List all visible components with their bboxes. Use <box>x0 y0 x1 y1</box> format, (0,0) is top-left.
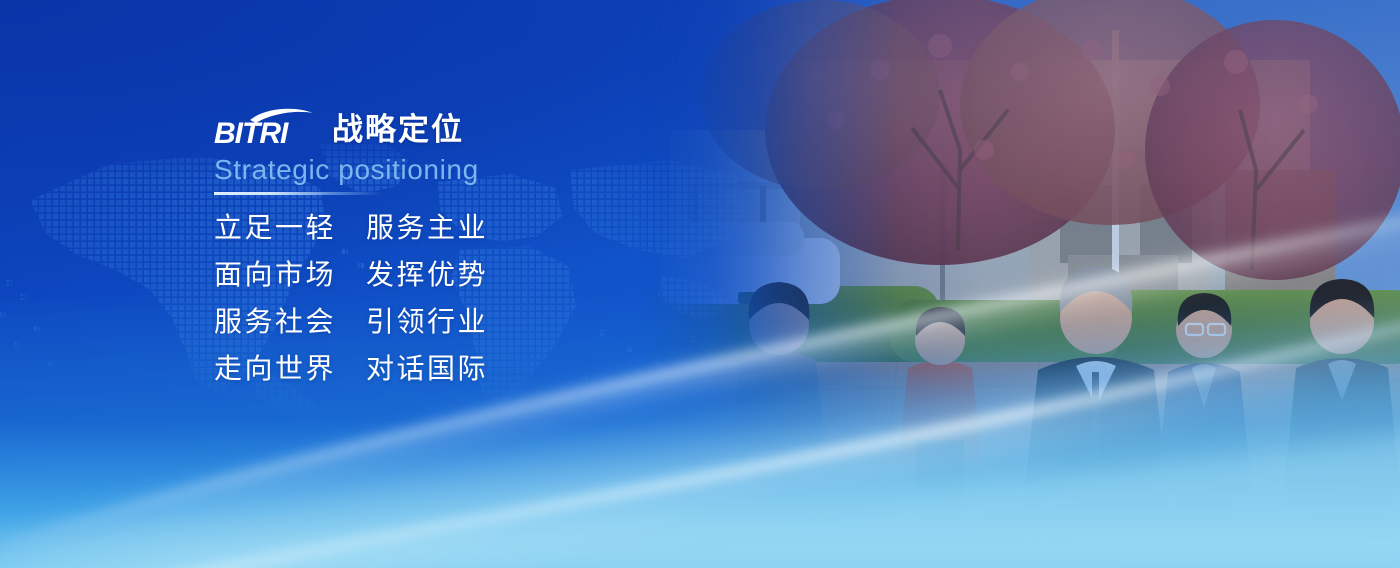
banner-title-cn: 战略定位 <box>332 114 464 145</box>
slogan-left: 走向世界 <box>214 355 366 383</box>
banner-subtitle-en: Strategic positioning <box>214 155 774 186</box>
strategic-positioning-banner: BITRI 战略定位 Strategic positioning 立足一轻 服务… <box>0 0 1400 568</box>
banner-content: BITRI 战略定位 Strategic positioning 立足一轻 服务… <box>214 104 774 383</box>
bitri-logo-text: BITRI <box>214 117 289 148</box>
title-divider <box>214 192 382 195</box>
slogan-line: 服务社会 引领行业 <box>214 308 774 336</box>
slogan-right: 发挥优势 <box>366 261 488 289</box>
slogan-list: 立足一轻 服务主业 面向市场 发挥优势 服务社会 引领行业 走向世界 对话国际 <box>214 214 774 383</box>
slogan-right: 服务主业 <box>366 214 488 242</box>
slogan-left: 服务社会 <box>214 308 366 336</box>
slogan-left: 面向市场 <box>214 261 366 289</box>
slogan-line: 走向世界 对话国际 <box>214 355 774 383</box>
bitri-logo[interactable]: BITRI <box>214 104 318 148</box>
slogan-line: 立足一轻 服务主业 <box>214 214 774 242</box>
slogan-line: 面向市场 发挥优势 <box>214 261 774 289</box>
slogan-right: 引领行业 <box>366 308 488 336</box>
title-row: BITRI 战略定位 <box>214 104 774 148</box>
slogan-left: 立足一轻 <box>214 214 366 242</box>
slogan-right: 对话国际 <box>366 355 488 383</box>
